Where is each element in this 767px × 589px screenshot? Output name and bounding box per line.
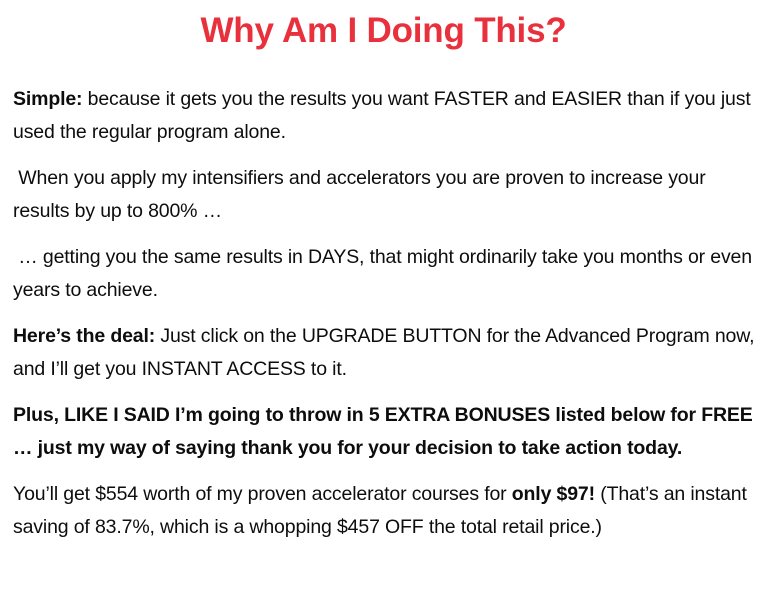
slide-canvas: Why Am I Doing This? Simple: because it … — [0, 0, 767, 589]
paragraph-days-text: … getting you the same results in DAYS, … — [13, 246, 757, 301]
paragraph-price: You’ll get $554 worth of my proven accel… — [13, 478, 758, 543]
paragraph-bonuses: Plus, LIKE I SAID I’m going to throw in … — [13, 399, 758, 464]
paragraph-heres-the-deal: Here’s the deal: Just click on the UPGRA… — [13, 320, 758, 385]
paragraph-heres-the-deal-lead: Here’s the deal: — [13, 325, 155, 347]
page-title: Why Am I Doing This? — [0, 8, 767, 53]
paragraph-price-before: You’ll get $554 worth of my proven accel… — [13, 483, 512, 505]
paragraph-simple-text: because it gets you the results you want… — [13, 88, 756, 143]
paragraph-simple-lead: Simple: — [13, 88, 82, 110]
paragraph-intensifiers: When you apply my intensifiers and accel… — [13, 162, 758, 227]
price-emphasis: only $97! — [512, 483, 595, 505]
paragraph-intensifiers-text: When you apply my intensifiers and accel… — [13, 167, 711, 222]
paragraph-bonuses-text: Plus, LIKE I SAID I’m going to throw in … — [13, 404, 758, 459]
body-content: Simple: because it gets you the results … — [13, 83, 758, 543]
paragraph-days: … getting you the same results in DAYS, … — [13, 241, 758, 306]
paragraph-simple: Simple: because it gets you the results … — [13, 83, 758, 148]
